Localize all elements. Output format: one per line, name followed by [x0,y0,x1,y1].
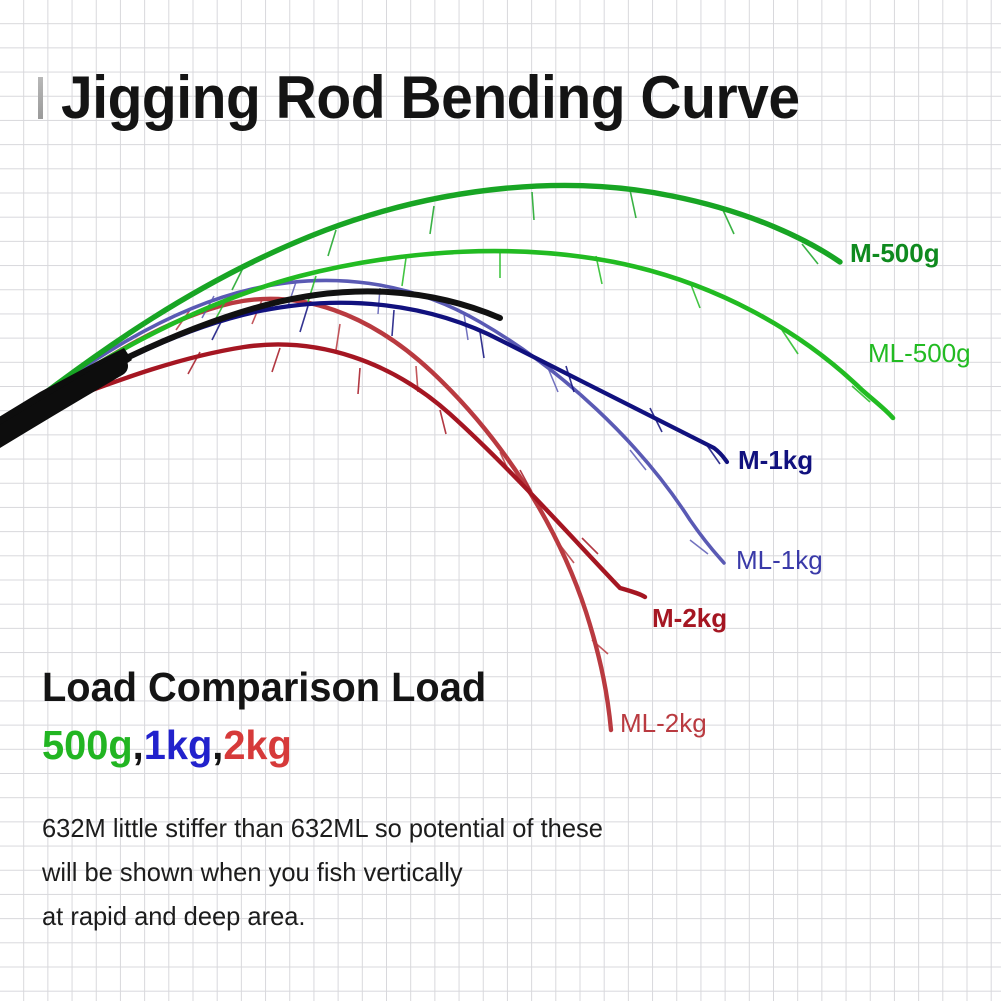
title-label: Jigging Rod Bending Curve [61,68,800,128]
load-comparison-heading: Load Comparison Load [42,664,486,711]
load-comparison-values: 500g,1kg,2kg [42,722,292,769]
curve-m-500g [10,185,840,420]
curve-label-m-1kg: M-1kg [738,447,813,473]
curve-rod-blank-black [10,291,500,420]
load-separator-2: , [212,722,223,768]
bending-curve-infographic: Jigging Rod Bending Curve [0,0,1001,1001]
curve-label-m-2kg: M-2kg [652,605,727,631]
load-value-500g: 500g [42,722,133,768]
description-line-2: will be shown when you fish vertically [42,850,603,894]
curve-label-m-500g: M-500g [850,240,940,266]
title-accent-bar [38,77,43,119]
curve-label-ml-500g: ML-500g [868,340,971,366]
description-line-1: 632M little stiffer than 632ML so potent… [42,806,603,850]
load-value-1kg: 1kg [144,722,213,768]
description-line-3: at rapid and deep area. [42,894,603,938]
description-block: 632M little stiffer than 632ML so potent… [42,806,603,938]
page-title: Jigging Rod Bending Curve [38,62,839,134]
curve-m-2kg [10,345,645,597]
rod-butt [0,348,132,448]
load-separator-1: , [133,722,144,768]
curve-ml-1kg [10,280,724,563]
curve-label-ml-1kg: ML-1kg [736,547,823,573]
curve-label-ml-2kg: ML-2kg [620,710,707,736]
curve-m-1kg [10,303,727,464]
curve-ml-500g [10,250,893,420]
load-value-2kg: 2kg [223,722,292,768]
